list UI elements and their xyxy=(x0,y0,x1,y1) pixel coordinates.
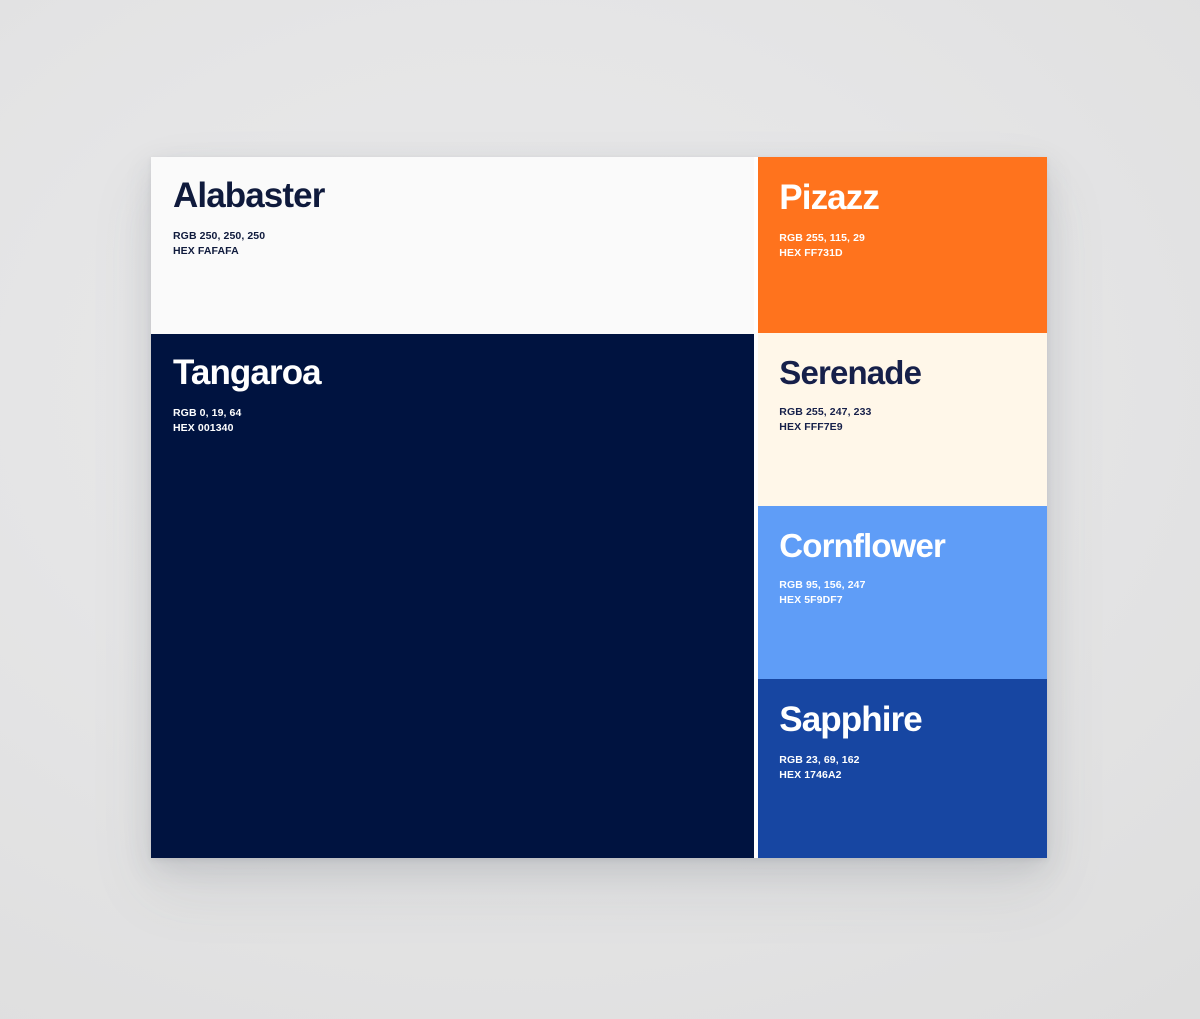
swatch-serenade[interactable]: Serenade RGB 255, 247, 233 HEX FFF7E9 xyxy=(758,333,1047,506)
swatch-meta: RGB 0, 19, 64 HEX 001340 xyxy=(173,406,754,436)
swatch-sapphire[interactable]: Sapphire RGB 23, 69, 162 HEX 1746A2 xyxy=(758,679,1047,858)
palette-column-left: Alabaster RGB 250, 250, 250 HEX FAFAFA T… xyxy=(151,157,754,858)
swatch-pizazz[interactable]: Pizazz RGB 255, 115, 29 HEX FF731D xyxy=(758,157,1047,333)
swatch-tangaroa[interactable]: Tangaroa RGB 0, 19, 64 HEX 001340 xyxy=(151,334,754,858)
swatch-rgb-value: RGB 255, 247, 233 xyxy=(779,405,1047,420)
swatch-rgb-value: RGB 23, 69, 162 xyxy=(779,753,1047,768)
swatch-meta: RGB 255, 115, 29 HEX FF731D xyxy=(779,231,1047,261)
swatch-body: Alabaster RGB 250, 250, 250 HEX FAFAFA xyxy=(151,157,754,259)
swatch-hex-value: HEX 001340 xyxy=(173,421,754,436)
swatch-body: Pizazz RGB 255, 115, 29 HEX FF731D xyxy=(758,157,1047,261)
swatch-body: Sapphire RGB 23, 69, 162 HEX 1746A2 xyxy=(758,679,1047,783)
swatch-title: Cornflower xyxy=(779,529,1047,563)
swatch-meta: RGB 255, 247, 233 HEX FFF7E9 xyxy=(779,405,1047,435)
swatch-cornflower[interactable]: Cornflower RGB 95, 156, 247 HEX 5F9DF7 xyxy=(758,506,1047,679)
swatch-hex-value: HEX FFF7E9 xyxy=(779,420,1047,435)
swatch-hex-value: HEX 5F9DF7 xyxy=(779,593,1047,608)
swatch-title: Alabaster xyxy=(173,178,754,214)
swatch-meta: RGB 95, 156, 247 HEX 5F9DF7 xyxy=(779,578,1047,608)
swatch-title: Tangaroa xyxy=(173,355,754,391)
swatch-title: Pizazz xyxy=(779,180,1047,216)
color-palette-card: Alabaster RGB 250, 250, 250 HEX FAFAFA T… xyxy=(151,157,1047,858)
swatch-body: Serenade RGB 255, 247, 233 HEX FFF7E9 xyxy=(758,333,1047,434)
swatch-rgb-value: RGB 255, 115, 29 xyxy=(779,231,1047,246)
swatch-body: Tangaroa RGB 0, 19, 64 HEX 001340 xyxy=(151,334,754,436)
swatch-title: Sapphire xyxy=(779,702,1047,738)
swatch-alabaster[interactable]: Alabaster RGB 250, 250, 250 HEX FAFAFA xyxy=(151,157,754,334)
palette-column-right: Pizazz RGB 255, 115, 29 HEX FF731D Seren… xyxy=(758,157,1047,858)
swatch-meta: RGB 23, 69, 162 HEX 1746A2 xyxy=(779,753,1047,783)
swatch-meta: RGB 250, 250, 250 HEX FAFAFA xyxy=(173,229,754,259)
swatch-hex-value: HEX FF731D xyxy=(779,246,1047,261)
swatch-title: Serenade xyxy=(779,356,1047,390)
swatch-hex-value: HEX FAFAFA xyxy=(173,244,754,259)
swatch-hex-value: HEX 1746A2 xyxy=(779,768,1047,783)
swatch-rgb-value: RGB 95, 156, 247 xyxy=(779,578,1047,593)
swatch-rgb-value: RGB 250, 250, 250 xyxy=(173,229,754,244)
swatch-body: Cornflower RGB 95, 156, 247 HEX 5F9DF7 xyxy=(758,506,1047,607)
swatch-rgb-value: RGB 0, 19, 64 xyxy=(173,406,754,421)
